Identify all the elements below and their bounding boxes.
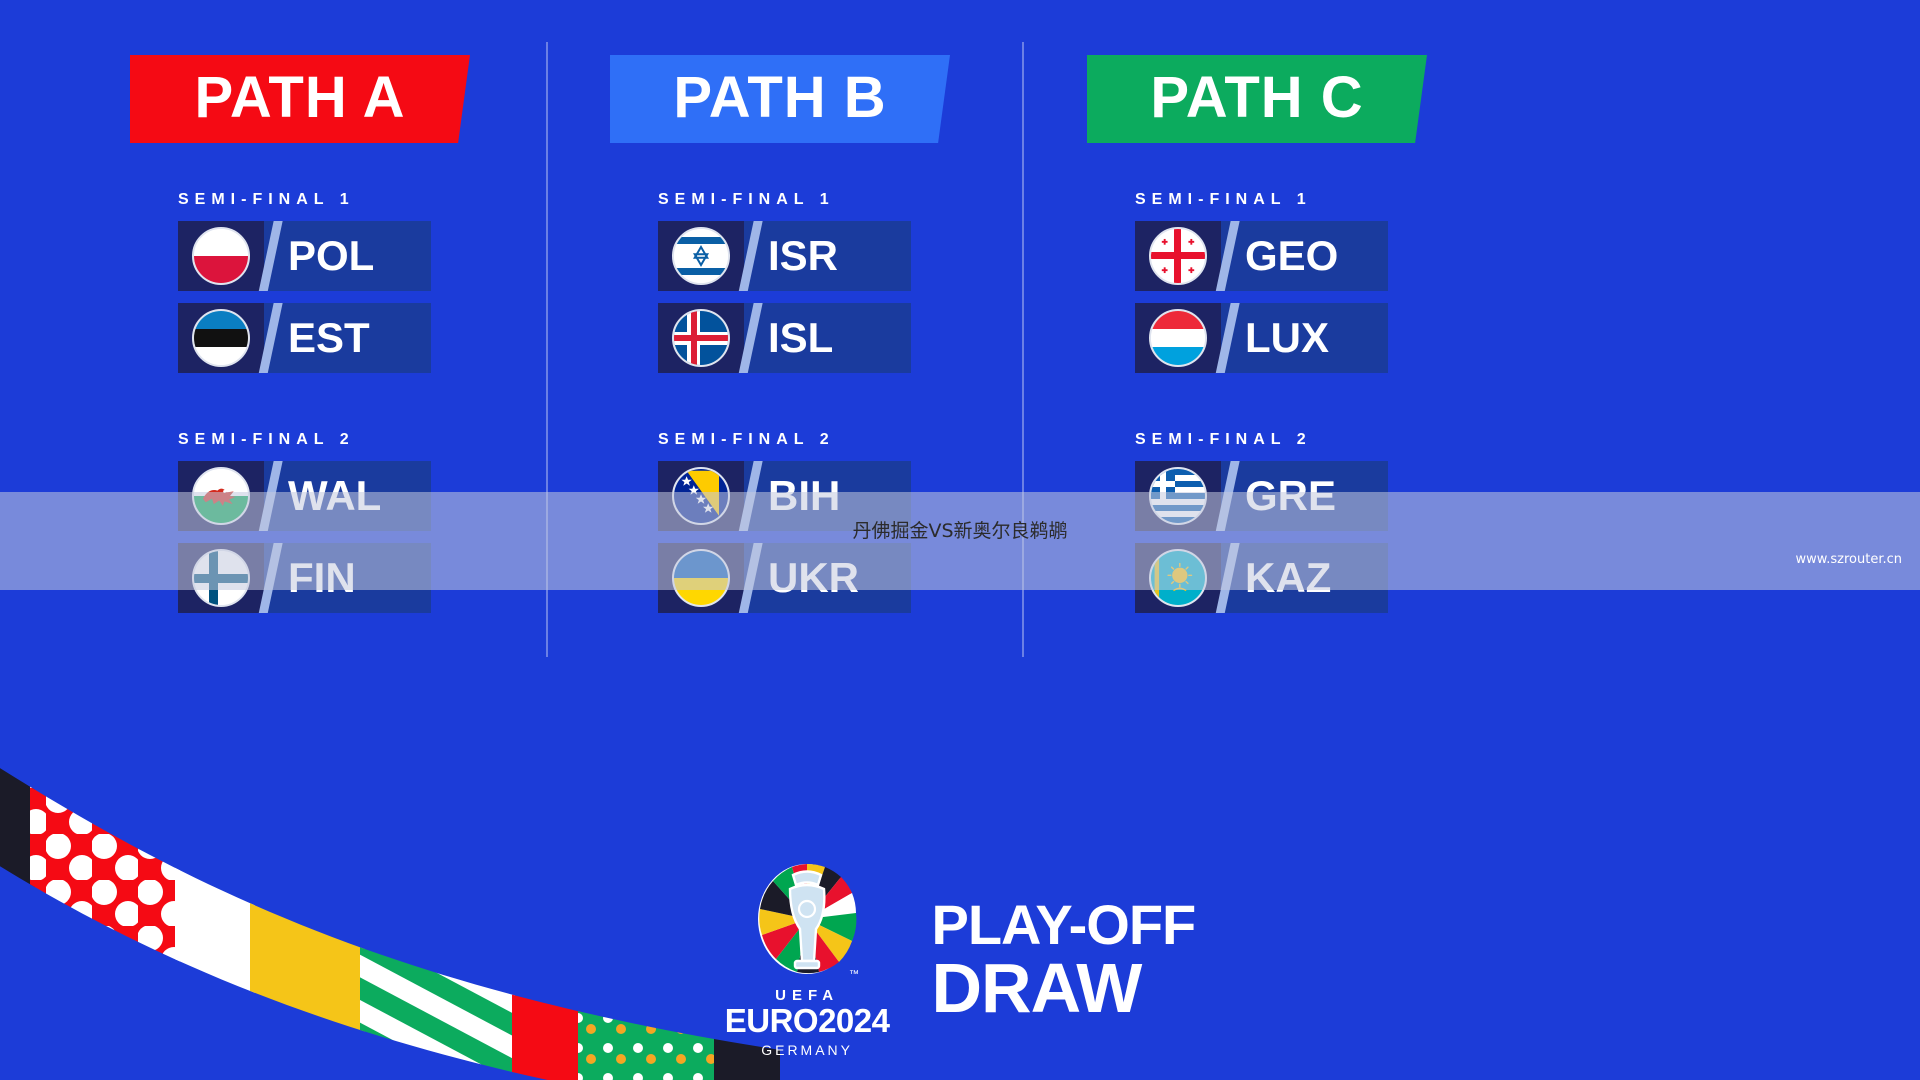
greece-flag-icon <box>1149 467 1207 525</box>
team-code: GRE <box>1245 475 1336 517</box>
team-row[interactable]: GEO <box>1135 221 1388 291</box>
path-banner-label: PATH B <box>673 69 886 127</box>
team-code: BIH <box>768 475 840 517</box>
semifinal-label: SEMI-FINAL 2 <box>1135 431 1567 449</box>
team-code: GEO <box>1245 235 1338 277</box>
team-row[interactable]: UKR <box>658 543 911 613</box>
team-code: EST <box>288 317 370 359</box>
euro-wordmark: EURO2024 <box>725 1004 890 1039</box>
flag-container <box>658 221 744 291</box>
wales-flag-icon <box>192 467 250 525</box>
team-code: POL <box>288 235 374 277</box>
flag-container <box>178 221 264 291</box>
flag-container <box>658 543 744 613</box>
team-row[interactable]: POL <box>178 221 431 291</box>
team-code: LUX <box>1245 317 1329 359</box>
footer-branding: ™ UEFA EURO2024 GERMANY PLAY-OFF DRAW <box>0 861 1920 1058</box>
team-row[interactable]: LUX <box>1135 303 1388 373</box>
title-line-1: PLAY-OFF <box>932 898 1196 951</box>
iceland-flag-icon <box>672 309 730 367</box>
team-code: FIN <box>288 557 356 599</box>
team-code: ISR <box>768 235 838 277</box>
team-row[interactable]: WAL <box>178 461 431 531</box>
path-banner-b: PATH B <box>610 55 950 143</box>
svg-text:™: ™ <box>849 969 859 980</box>
trophy-icon: ™ <box>753 861 861 983</box>
team-code: KAZ <box>1245 557 1331 599</box>
path-column-a: PATH A SEMI-FINAL 1 POL EST <box>130 55 610 625</box>
estonia-flag-icon <box>192 309 250 367</box>
flag-container <box>178 461 264 531</box>
team-row[interactable]: ISR <box>658 221 911 291</box>
poland-flag-icon <box>192 227 250 285</box>
team-code: WAL <box>288 475 381 517</box>
path-column-c: PATH C SEMI-FINAL 1 <box>1087 55 1567 625</box>
flag-container <box>178 303 264 373</box>
flag-container <box>658 461 744 531</box>
flag-container <box>178 543 264 613</box>
finland-flag-icon <box>192 549 250 607</box>
georgia-flag-icon <box>1149 227 1207 285</box>
path-column-b: PATH B SEMI-FINAL 1 ISR <box>610 55 1090 625</box>
team-row[interactable]: ISL <box>658 303 911 373</box>
flag-container <box>658 303 744 373</box>
path-banner-label: PATH A <box>194 69 405 127</box>
team-code: ISL <box>768 317 833 359</box>
team-row[interactable]: EST <box>178 303 431 373</box>
team-row[interactable]: BIH <box>658 461 911 531</box>
path-banner-c: PATH C <box>1087 55 1427 143</box>
path-banner-a: PATH A <box>130 55 470 143</box>
path-banner-label: PATH C <box>1150 69 1363 127</box>
luxembourg-flag-icon <box>1149 309 1207 367</box>
country-wordmark: GERMANY <box>761 1042 853 1058</box>
flag-container <box>1135 303 1221 373</box>
flag-container <box>1135 461 1221 531</box>
title-line-2: DRAW <box>932 955 1196 1022</box>
israel-flag-icon <box>672 227 730 285</box>
team-row[interactable]: FIN <box>178 543 431 613</box>
bosnia-flag-icon <box>672 467 730 525</box>
flag-container <box>1135 543 1221 613</box>
flag-container <box>1135 221 1221 291</box>
semifinal-label: SEMI-FINAL 1 <box>178 191 610 209</box>
playoff-draw-title: PLAY-OFF DRAW <box>932 898 1196 1022</box>
team-row[interactable]: GRE <box>1135 461 1388 531</box>
euro-2024-logo: ™ UEFA EURO2024 GERMANY <box>725 861 890 1058</box>
semifinal-label: SEMI-FINAL 2 <box>658 431 1090 449</box>
team-row[interactable]: KAZ <box>1135 543 1388 613</box>
team-code: UKR <box>768 557 859 599</box>
semifinal-label: SEMI-FINAL 2 <box>178 431 610 449</box>
semifinal-label: SEMI-FINAL 1 <box>658 191 1090 209</box>
semifinal-label: SEMI-FINAL 1 <box>1135 191 1567 209</box>
ukraine-flag-icon <box>672 549 730 607</box>
kazakhstan-flag-icon <box>1149 549 1207 607</box>
